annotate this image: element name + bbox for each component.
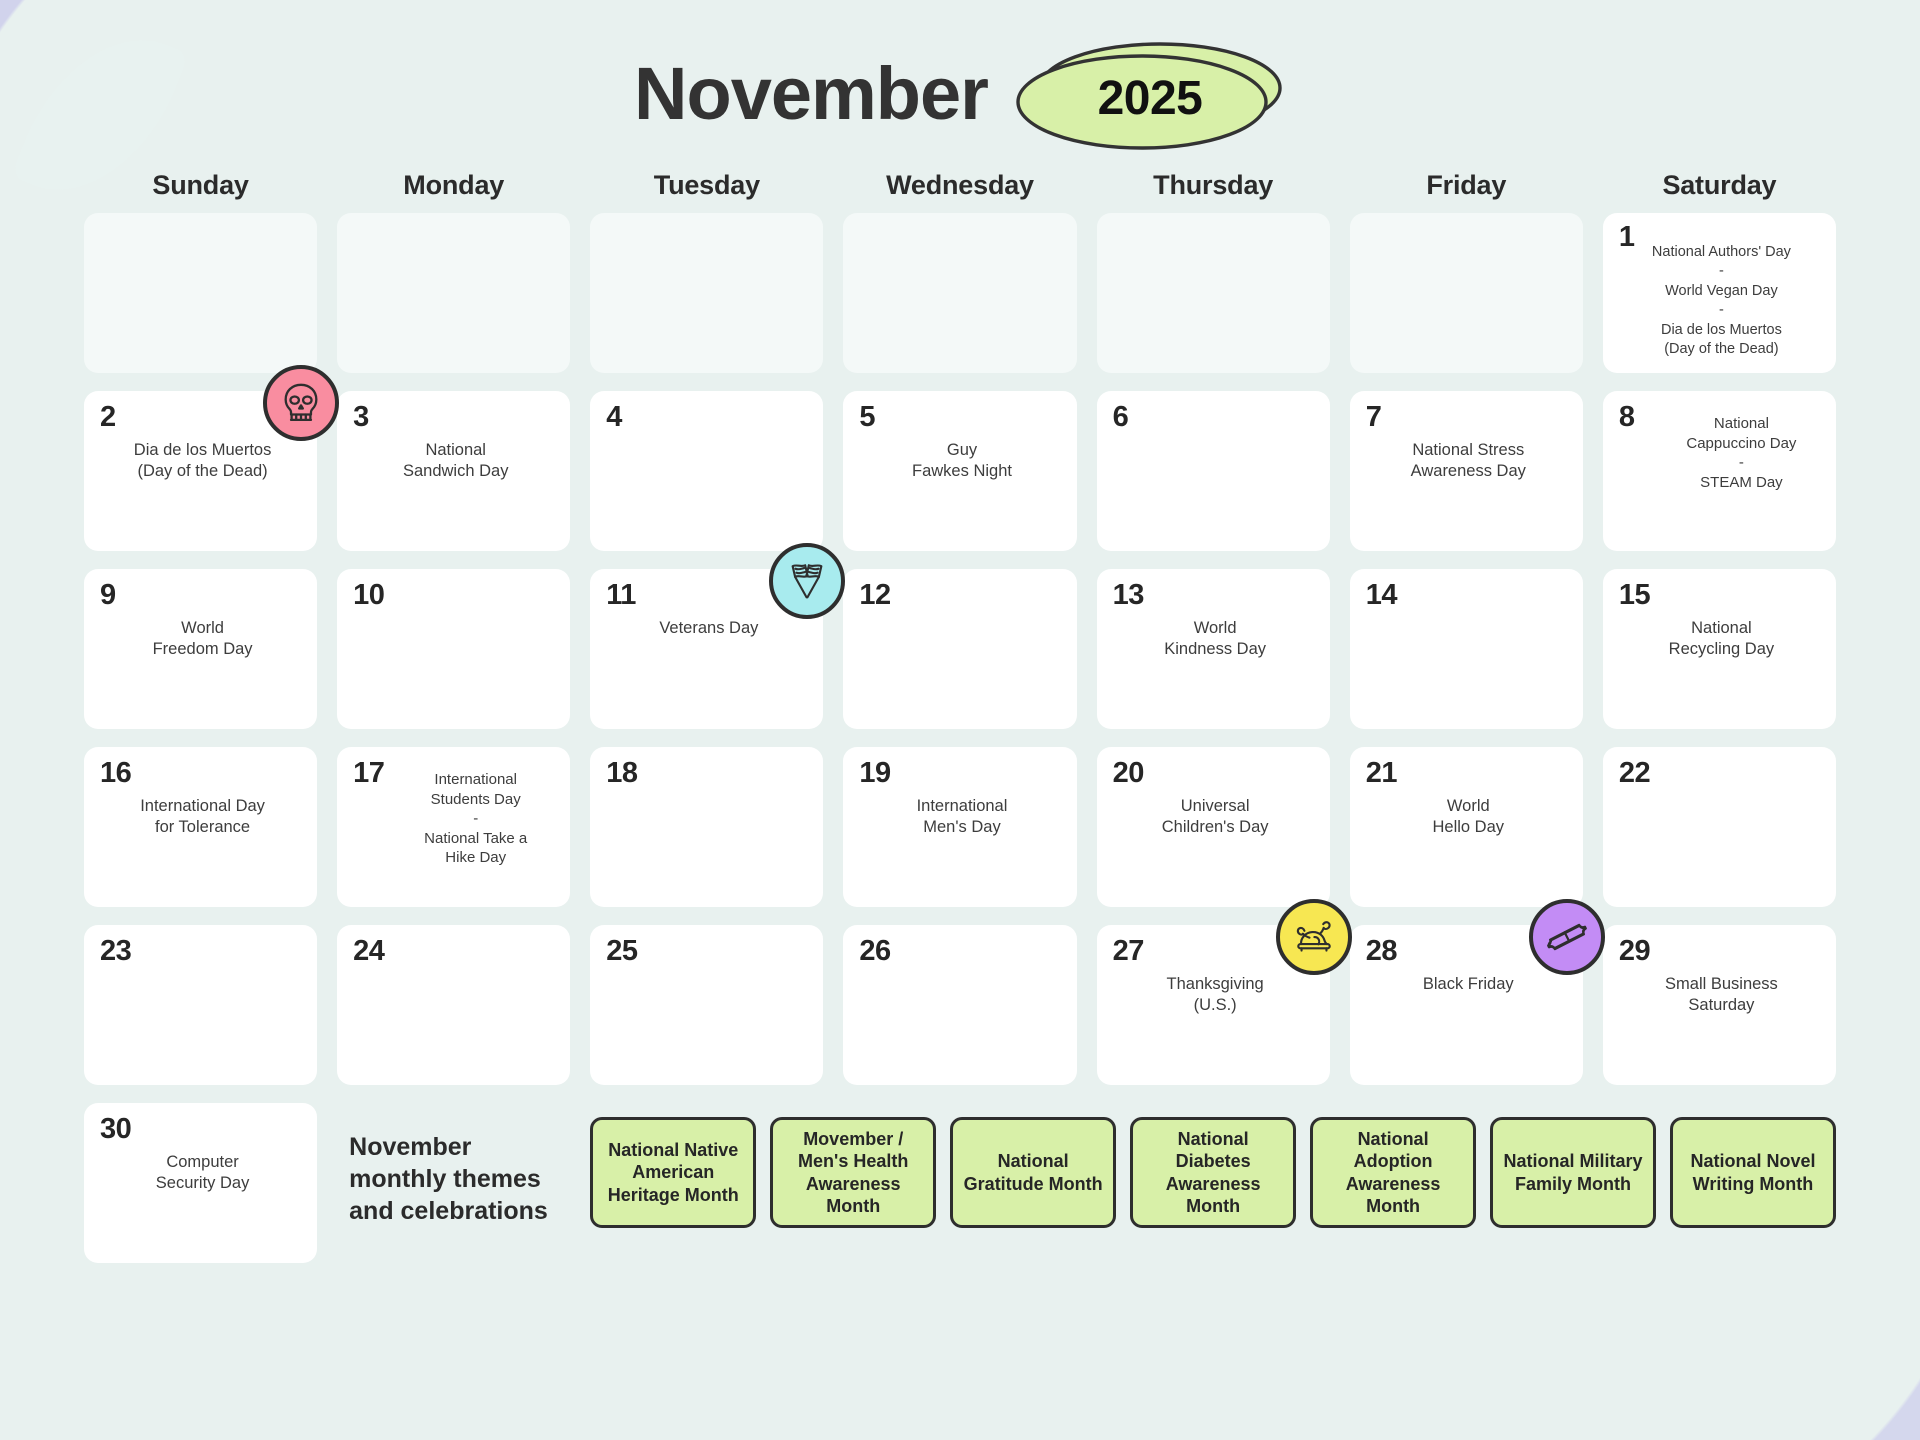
day-cell-6[interactable]: 6 (1097, 391, 1330, 551)
day-cell-28[interactable]: 28Black Friday (1350, 925, 1583, 1085)
day-cell-12[interactable]: 12 (843, 569, 1076, 729)
day-cell-3[interactable]: 3NationalSandwich Day (337, 391, 570, 551)
day-events: WorldKindness Day (1113, 618, 1318, 660)
day-events: NationalRecycling Day (1619, 618, 1824, 660)
weekday-header-tuesday: Tuesday (590, 170, 823, 201)
weekday-header-row: SundayMondayTuesdayWednesdayThursdayFrid… (84, 170, 1836, 201)
weekday-header-monday: Monday (337, 170, 570, 201)
calendar-header: November 2025 (0, 0, 1920, 170)
day-number: 4 (606, 403, 811, 432)
day-events: Thanksgiving(U.S.) (1113, 974, 1318, 1016)
day-number: 3 (353, 403, 558, 432)
page-title: November (634, 57, 988, 131)
day-events: NationalSandwich Day (353, 440, 558, 482)
week-row: 16International Dayfor Tolerance17Intern… (84, 747, 1836, 907)
last-week-and-themes-row: 30ComputerSecurity Day November monthly … (84, 1103, 1836, 1263)
day-cell-4[interactable]: 4 (590, 391, 823, 551)
week-row: 1National Authors' Day-World Vegan Day-D… (84, 213, 1836, 373)
turkey-icon-badge (1276, 899, 1352, 975)
day-events: NationalCappuccino Day-STEAM Day (1659, 414, 1824, 492)
day-cell-7[interactable]: 7National StressAwareness Day (1350, 391, 1583, 551)
day-events: InternationalStudents Day-National Take … (393, 770, 558, 868)
ticket-icon-badge (1529, 899, 1605, 975)
theme-chip[interactable]: National Military Family Month (1490, 1117, 1656, 1228)
day-cell-17[interactable]: 17InternationalStudents Day-National Tak… (337, 747, 570, 907)
weekday-header-thursday: Thursday (1097, 170, 1330, 201)
theme-chip[interactable]: National Native American Heritage Month (590, 1117, 756, 1228)
day-number: 23 (100, 937, 305, 966)
weekday-header-wednesday: Wednesday (843, 170, 1076, 201)
theme-chip[interactable]: National Novel Writing Month (1670, 1117, 1836, 1228)
day-events: Dia de los Muertos(Day of the Dead) (100, 440, 305, 482)
day-events: ComputerSecurity Day (100, 1152, 305, 1194)
day-cell-24[interactable]: 24 (337, 925, 570, 1085)
skull-icon (278, 380, 324, 426)
day-cell-19[interactable]: 19InternationalMen's Day (843, 747, 1076, 907)
day-events: InternationalMen's Day (859, 796, 1064, 838)
day-cell-18[interactable]: 18 (590, 747, 823, 907)
day-cell-16[interactable]: 16International Dayfor Tolerance (84, 747, 317, 907)
weekday-header-friday: Friday (1350, 170, 1583, 201)
day-cell-1[interactable]: 1National Authors' Day-World Vegan Day-D… (1603, 213, 1836, 373)
day-cell-30[interactable]: 30ComputerSecurity Day (84, 1103, 317, 1263)
day-number: 25 (606, 937, 811, 966)
day-cell-20[interactable]: 20UniversalChildren's Day (1097, 747, 1330, 907)
day-cell-27[interactable]: 27Thanksgiving(U.S.) (1097, 925, 1330, 1085)
day-events: WorldHello Day (1366, 796, 1571, 838)
day-events: GuyFawkes Night (859, 440, 1064, 482)
day-number: 24 (353, 937, 558, 966)
day-events: International Dayfor Tolerance (100, 796, 305, 838)
day-cell-empty (1097, 213, 1330, 373)
weekday-header-saturday: Saturday (1603, 170, 1836, 201)
day-number: 6 (1113, 403, 1318, 432)
week-row: 9WorldFreedom Day1011Veterans Day1213Wor… (84, 569, 1836, 729)
theme-chip[interactable]: Movember / Men's Health Awareness Month (770, 1117, 936, 1228)
day-cell-empty (84, 213, 317, 373)
day-number: 7 (1366, 403, 1571, 432)
monthly-themes-label: November monthly themes and celebrations (337, 1103, 570, 1227)
day-cell-2[interactable]: 2Dia de los Muertos(Day of the Dead) (84, 391, 317, 551)
crossed-flags-icon-badge (769, 543, 845, 619)
crossed-flags-icon (784, 558, 830, 604)
day-cell-29[interactable]: 29Small BusinessSaturday (1603, 925, 1836, 1085)
day-number: 16 (100, 759, 305, 788)
day-cell-empty (590, 213, 823, 373)
ticket-icon (1544, 914, 1590, 960)
day-events: National Authors' Day-World Vegan Day-Di… (1619, 243, 1824, 360)
day-number: 1 (1619, 223, 1635, 252)
week-row: 2Dia de los Muertos(Day of the Dead)3Nat… (84, 391, 1836, 551)
day-cell-21[interactable]: 21WorldHello Day (1350, 747, 1583, 907)
day-cell-10[interactable]: 10 (337, 569, 570, 729)
day-events: Black Friday (1366, 974, 1571, 995)
day-cell-empty (1350, 213, 1583, 373)
day-number: 21 (1366, 759, 1571, 788)
day-number: 15 (1619, 581, 1824, 610)
calendar-page: November 2025 SundayMondayTuesdayWednesd… (0, 0, 1920, 1440)
day-number: 10 (353, 581, 558, 610)
day-cell-8[interactable]: 8NationalCappuccino Day-STEAM Day (1603, 391, 1836, 551)
day-events: Veterans Day (606, 618, 811, 639)
day-number: 9 (100, 581, 305, 610)
year-badge: 2025 (1014, 32, 1286, 157)
day-cell-empty (337, 213, 570, 373)
day-number: 19 (859, 759, 1064, 788)
day-cell-25[interactable]: 25 (590, 925, 823, 1085)
weeks-container: 1National Authors' Day-World Vegan Day-D… (84, 213, 1836, 1085)
day-cell-13[interactable]: 13WorldKindness Day (1097, 569, 1330, 729)
day-number: 14 (1366, 581, 1571, 610)
day-number: 29 (1619, 937, 1824, 966)
day-events: National StressAwareness Day (1366, 440, 1571, 482)
monthly-theme-chips: National Native American Heritage MonthM… (590, 1103, 1836, 1228)
day-cell-14[interactable]: 14 (1350, 569, 1583, 729)
day-events: WorldFreedom Day (100, 618, 305, 660)
day-cell-11[interactable]: 11Veterans Day (590, 569, 823, 729)
day-cell-9[interactable]: 9WorldFreedom Day (84, 569, 317, 729)
day-number: 18 (606, 759, 811, 788)
calendar-grid: SundayMondayTuesdayWednesdayThursdayFrid… (0, 170, 1920, 1263)
day-cell-26[interactable]: 26 (843, 925, 1076, 1085)
turkey-icon (1291, 914, 1337, 960)
day-number: 12 (859, 581, 1064, 610)
weekday-header-sunday: Sunday (84, 170, 317, 201)
day-cell-5[interactable]: 5GuyFawkes Night (843, 391, 1076, 551)
theme-chip[interactable]: National Adoption Awareness Month (1310, 1117, 1476, 1228)
week-row: 2324252627Thanksgiving(U.S.)28Black Frid… (84, 925, 1836, 1085)
skull-icon-badge (263, 365, 339, 441)
year-label: 2025 (1098, 71, 1203, 126)
day-number: 5 (859, 403, 1064, 432)
day-number: 26 (859, 937, 1064, 966)
day-events: UniversalChildren's Day (1113, 796, 1318, 838)
decor-blob-bottom-right-inner (1670, 1260, 1920, 1440)
theme-chip[interactable]: National Diabetes Awareness Month (1130, 1117, 1296, 1228)
day-number: 20 (1113, 759, 1318, 788)
day-cell-23[interactable]: 23 (84, 925, 317, 1085)
day-number: 22 (1619, 759, 1824, 788)
theme-chip[interactable]: National Gratitude Month (950, 1117, 1116, 1228)
day-cell-empty (843, 213, 1076, 373)
day-events: Small BusinessSaturday (1619, 974, 1824, 1016)
day-number: 30 (100, 1115, 305, 1144)
day-cell-15[interactable]: 15NationalRecycling Day (1603, 569, 1836, 729)
day-number: 13 (1113, 581, 1318, 610)
day-cell-22[interactable]: 22 (1603, 747, 1836, 907)
